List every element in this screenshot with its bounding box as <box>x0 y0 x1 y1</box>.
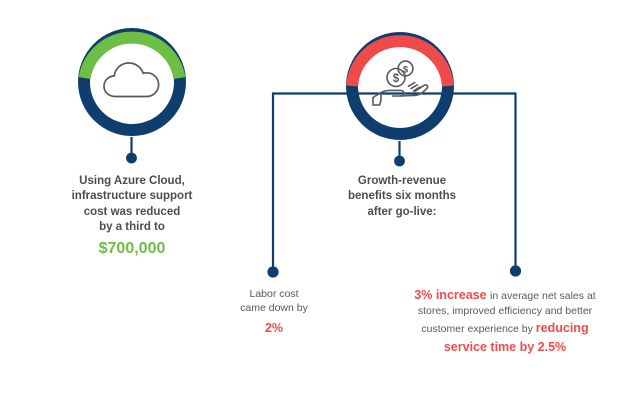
cloud-ring <box>77 27 187 137</box>
labor-cost-caption-line-1: Labor cost <box>215 288 333 302</box>
infographic-canvas: $ $ Using Azure Cloud, infrastructure su… <box>0 0 640 417</box>
labor-cost-caption-line-2: came down by <box>215 302 333 316</box>
growth-revenue-caption: Growth-revenue benefits six months after… <box>318 174 486 220</box>
cloud-caption-line-4: by a third to <box>46 220 218 235</box>
growth-revenue-caption-line-2: benefits six months <box>318 189 486 204</box>
sales-increase-metric: 3% increase <box>414 288 490 302</box>
coin-dollar-sign-large: $ <box>393 73 400 85</box>
cloud-cost-savings-amount: $700,000 <box>46 238 218 259</box>
connector-right-endpoint-dot <box>510 265 521 276</box>
cloud-icon <box>99 49 165 115</box>
cloud-caption: Using Azure Cloud, infrastructure suppor… <box>46 174 218 259</box>
coin-dollar-sign-small: $ <box>403 64 409 75</box>
labor-cost-reduction-amount: 2% <box>215 320 333 337</box>
sales-increase-caption: 3% increase in average net sales at stor… <box>404 286 606 356</box>
labor-cost-caption: Labor cost came down by 2% <box>215 288 333 337</box>
connector-left-endpoint-dot <box>267 266 278 277</box>
money-node-dot <box>394 156 405 167</box>
cloud-caption-line-1: Using Azure Cloud, <box>46 174 218 189</box>
cloud-caption-line-3: cost was reduced <box>46 205 218 220</box>
cloud-caption-line-2: infrastructure support <box>46 189 218 204</box>
cloud-node-dot <box>126 153 137 164</box>
growth-revenue-caption-line-3: after go-live: <box>318 205 486 220</box>
growth-revenue-caption-line-1: Growth-revenue <box>318 174 486 189</box>
money-ring: $ $ <box>345 31 455 141</box>
hand-holding-money-icon: $ $ <box>367 53 433 119</box>
